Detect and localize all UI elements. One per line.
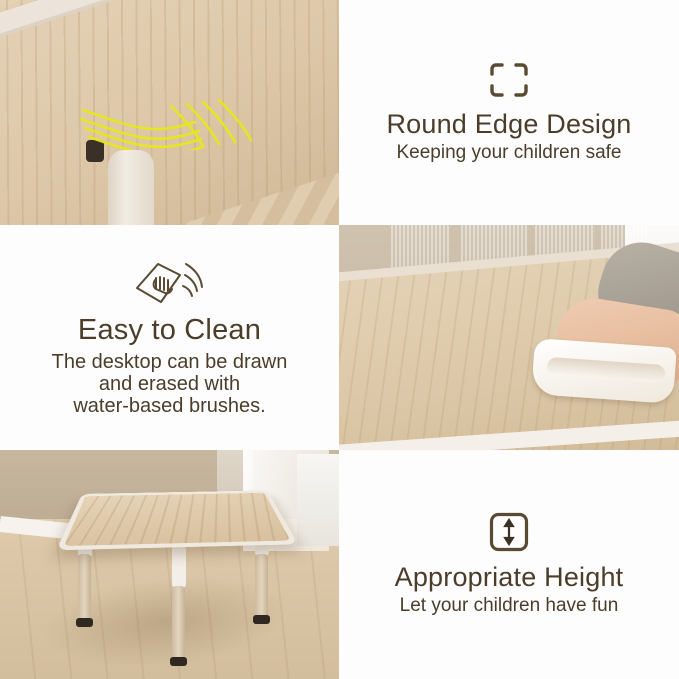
corner-brackets-icon — [488, 61, 530, 99]
photo-full-table — [0, 450, 339, 679]
leg-foot — [170, 657, 187, 666]
feature-title: Round Edge Design — [386, 109, 631, 140]
feature-title: Appropriate Height — [395, 562, 624, 593]
table-top-surface — [56, 490, 298, 550]
leg-foot — [76, 618, 93, 627]
leg-lower-beige — [172, 586, 185, 660]
feature-appropriate-height: Appropriate Height Let your children hav… — [339, 450, 679, 679]
product-feature-grid: Round Edge Design Keeping your children … — [0, 0, 679, 679]
photo-wiping-desktop — [339, 225, 679, 450]
leg-foot — [253, 615, 270, 624]
feature-title: Easy to Clean — [78, 314, 261, 347]
height-arrow-icon — [489, 512, 529, 552]
feature-subtitle-line-1: The desktop can be drawn — [52, 351, 288, 373]
feature-subtitle-line-2: and erased with — [99, 373, 240, 395]
leg-lower-beige — [78, 554, 91, 620]
feature-round-edge: Round Edge Design Keeping your children … — [339, 0, 679, 225]
leg-lower-beige — [255, 554, 268, 618]
feature-subtitle-line-3: water-based brushes. — [73, 395, 265, 417]
feature-subtitle: Keeping your children safe — [397, 142, 622, 163]
feature-easy-to-clean: Easy to Clean The desktop can be drawn a… — [0, 225, 339, 450]
feature-subtitle: Let your children have fun — [400, 595, 619, 616]
window — [297, 454, 339, 546]
table-leg — [108, 150, 154, 225]
leg-upper-white — [172, 546, 186, 588]
hand-wiping-cloth-icon — [131, 258, 209, 308]
yellow-edge-highlight — [75, 88, 260, 150]
photo-corner-closeup — [0, 0, 339, 225]
